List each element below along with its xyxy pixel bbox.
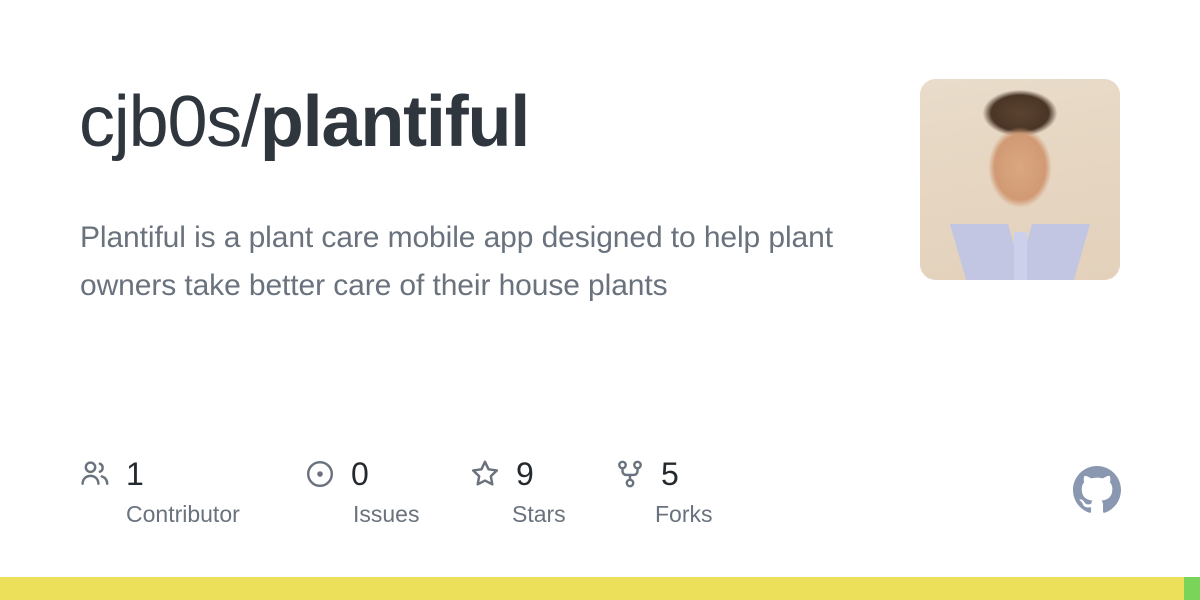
- page-title: cjb0s/plantiful: [79, 86, 529, 158]
- issue-opened-icon: [305, 459, 335, 489]
- stat-stars[interactable]: 9 Stars: [470, 452, 615, 526]
- stat-issues[interactable]: 0 Issues: [305, 452, 470, 526]
- language-segment-primary-language: [0, 577, 1184, 600]
- avatar-photo: [920, 79, 1120, 280]
- stat-contributors-value: 1: [126, 458, 144, 490]
- stat-stars-top: 9: [470, 452, 615, 496]
- stat-forks-label: Forks: [655, 503, 735, 526]
- repo-description: Plantiful is a plant care mobile app des…: [80, 214, 880, 310]
- repo-stats: 1 Contributor 0 Issues: [80, 452, 735, 526]
- language-bar: [0, 577, 1200, 600]
- stat-stars-value: 9: [516, 458, 534, 490]
- stat-contributors[interactable]: 1 Contributor: [80, 452, 305, 526]
- repo-owner[interactable]: cjb0s: [79, 82, 241, 162]
- repo-separator: /: [241, 82, 260, 162]
- repo-name[interactable]: plantiful: [260, 82, 529, 162]
- stat-contributors-top: 1: [80, 452, 305, 496]
- stat-stars-label: Stars: [512, 503, 615, 526]
- stat-forks-top: 5: [615, 452, 735, 496]
- people-icon: [80, 459, 110, 489]
- avatar-shirt-placket: [1014, 232, 1027, 280]
- language-segment-secondary-language: [1184, 577, 1200, 600]
- stat-contributors-label: Contributor: [126, 503, 305, 526]
- star-icon: [470, 459, 500, 489]
- github-mark-icon: [1073, 466, 1121, 514]
- repo-social-preview-card: cjb0s/plantiful Plantiful is a plant car…: [0, 0, 1200, 600]
- stat-issues-top: 0: [305, 452, 470, 496]
- stat-forks-value: 5: [661, 458, 679, 490]
- stat-forks[interactable]: 5 Forks: [615, 452, 735, 526]
- avatar-shirt-right: [1016, 224, 1090, 280]
- fork-icon: [615, 459, 645, 489]
- stat-issues-label: Issues: [353, 503, 470, 526]
- avatar-shirt-left: [950, 224, 1024, 280]
- stat-issues-value: 0: [351, 458, 369, 490]
- avatar: [920, 79, 1120, 280]
